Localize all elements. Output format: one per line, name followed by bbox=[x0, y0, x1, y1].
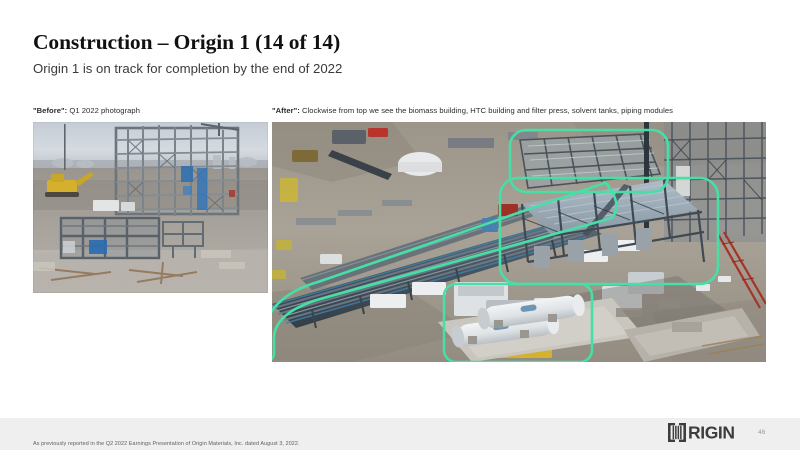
page-number: 46 bbox=[758, 429, 766, 436]
page-subtitle: Origin 1 is on track for completion by t… bbox=[33, 61, 342, 76]
footer-disclaimer: As previously reported in the Q2 2022 Ea… bbox=[33, 441, 300, 447]
caption-after-text: Clockwise from top we see the biomass bu… bbox=[300, 106, 673, 115]
svg-text:RIGIN: RIGIN bbox=[688, 423, 735, 442]
before-photograph-artwork bbox=[33, 122, 268, 293]
caption-before-photo: "Before": Q1 2022 photograph bbox=[33, 106, 140, 115]
caption-after-photo: "After": Clockwise from top we see the b… bbox=[272, 106, 673, 115]
caption-before-text: Q1 2022 photograph bbox=[67, 106, 140, 115]
caption-before-lead: "Before": bbox=[33, 106, 67, 115]
after-photograph-artwork bbox=[272, 122, 766, 362]
caption-after-lead: "After": bbox=[272, 106, 300, 115]
origin-logo: RIGIN bbox=[668, 423, 748, 442]
after-photograph bbox=[272, 122, 766, 362]
before-photograph bbox=[33, 122, 268, 293]
origin-logo-mark: RIGIN bbox=[668, 423, 748, 442]
presentation-slide: Construction – Origin 1 (14 of 14) Origi… bbox=[0, 0, 800, 450]
page-title: Construction – Origin 1 (14 of 14) bbox=[33, 30, 340, 55]
